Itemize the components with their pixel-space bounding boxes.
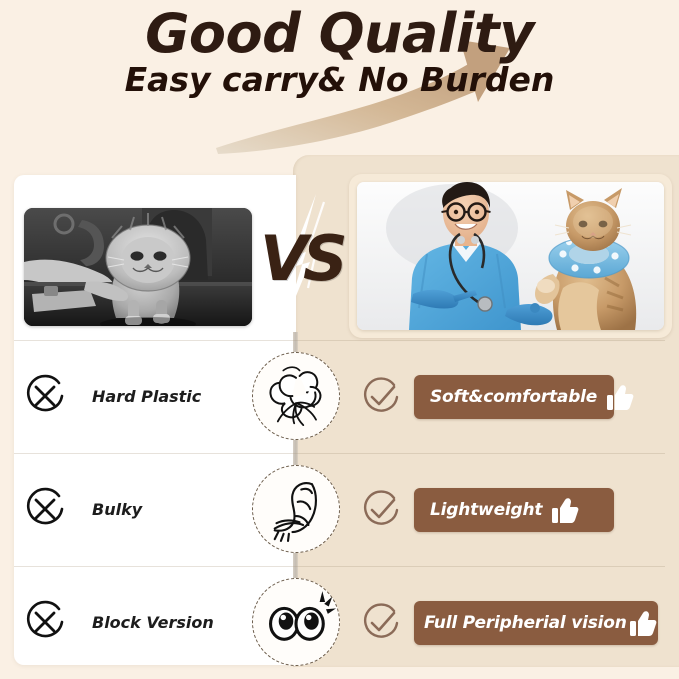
positive-benefit-pill[interactable]: Soft&comfortable [414,375,614,419]
x-circle-icon [22,486,68,532]
positive-label: Lightweight [430,500,542,520]
thumbs-up-icon [628,608,658,638]
positive-label: Soft&comfortable [430,387,597,407]
feather-icon [252,465,340,553]
cat-hard-cone-photo [24,208,252,326]
negative-label: Bulky [92,500,272,519]
row-separator [14,340,665,341]
feature-row-block-version: Block Version Full Peripherial vi [0,566,679,679]
header: Good Quality Easy carry& No Burden [0,0,679,155]
eyes-icon [252,578,340,666]
feature-row-hard-plastic: Hard Plastic [0,340,679,453]
thumbs-up-icon [605,382,635,412]
check-circle-icon [360,602,402,644]
check-circle-icon [360,489,402,531]
x-circle-icon [22,373,68,419]
row-separator [14,566,665,567]
vet-with-cat-donut-collar-photo [357,182,664,330]
cotton-boll-icon [252,352,340,440]
feature-row-bulky: Bulky Lightweight [0,453,679,566]
x-circle-icon [22,599,68,645]
check-circle-icon [360,376,402,418]
page-title: Good Quality [0,6,679,63]
positive-label: Full Peripherial vision [424,613,627,633]
positive-benefit-pill[interactable]: Full Peripherial vision [414,601,658,645]
thumbs-up-icon [550,495,580,525]
row-separator [14,453,665,454]
positive-benefit-pill[interactable]: Lightweight [414,488,614,532]
page-subtitle: Easy carry& No Burden [0,62,679,98]
negative-label: Block Version [92,613,272,632]
product-comparison-infographic: Good Quality Easy carry& No Burden [0,0,679,679]
negative-label: Hard Plastic [92,387,272,406]
